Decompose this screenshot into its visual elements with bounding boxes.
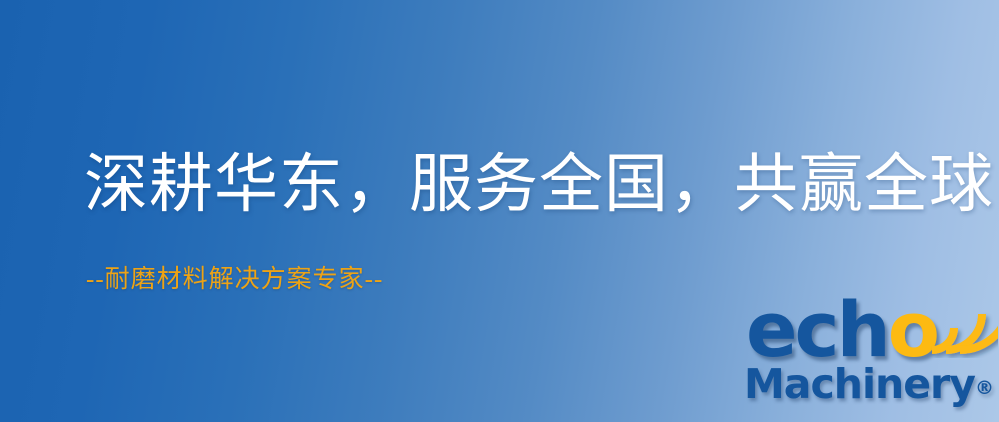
logo-company-name-text: Machinery: [744, 360, 975, 408]
logo-wordmark: echo: [746, 292, 937, 368]
registered-trademark-icon: ®: [975, 377, 994, 399]
echo-machinery-logo: echo Machinery®: [742, 296, 994, 416]
banner-subtitle: --耐磨材料解决方案专家--: [86, 267, 383, 292]
banner-headline: 深耕华东，服务全国，共赢全球: [84, 153, 994, 217]
logo-company-name: Machinery®: [744, 364, 994, 405]
promo-banner: 深耕华东，服务全国，共赢全球 --耐磨材料解决方案专家-- echo Machi…: [0, 0, 999, 422]
